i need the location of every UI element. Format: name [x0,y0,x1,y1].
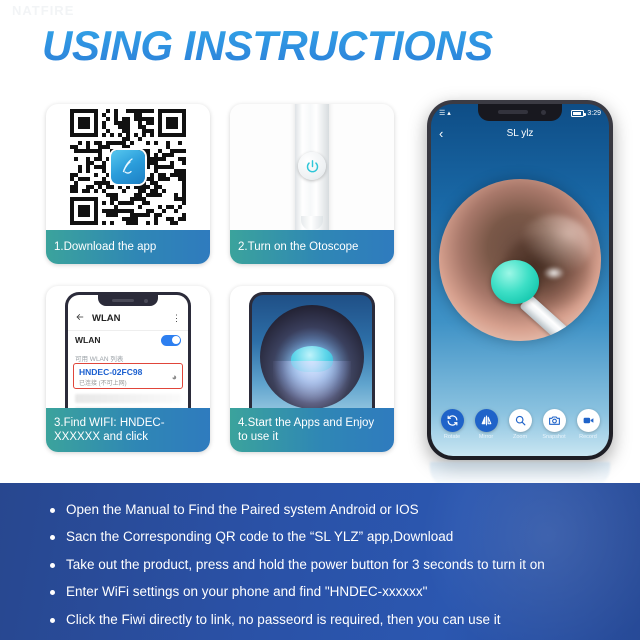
mini-phone-frame: WLAN ⋮ WLAN 可用 WLAN 列表 HNDEC-02FC98 已连接 … [65,292,191,408]
back-arrow-icon[interactable] [75,309,85,327]
step-card-turn-on-otoscope: 2.Turn on the Otoscope [230,104,394,264]
bullet-dot-icon [50,508,55,513]
camera-toolbar: Rotate Mirror Zoom [431,409,609,441]
toolbar-button-snapshot[interactable]: Snapshot [540,409,568,441]
toolbar-button-record[interactable]: Record [574,409,602,441]
phone-mockup: ☰ ▴ 3:29 ‹ SL ylz [427,100,613,460]
qr-code-area [46,104,210,230]
instruction-item: Sacn the Corresponding QR code to the “S… [50,528,640,547]
toolbar-label-record: Record [579,434,597,440]
camera-icon [543,409,566,432]
ear-preview-screenshot [230,286,394,408]
step-caption-1: 1.Download the app [46,230,210,264]
probe-tip [491,260,539,304]
step-caption-3: 3.Find WIFI: HNDEC-XXXXXX and click [46,408,210,452]
rotate-icon [441,409,464,432]
ear-view-circle [260,305,364,409]
bullet-dot-icon [50,618,55,623]
mirror-icon [475,409,498,432]
instruction-text: Open the Manual to Find the Paired syste… [66,501,419,520]
instruction-item: Open the Manual to Find the Paired syste… [50,501,640,520]
video-icon [577,409,600,432]
qr-code [70,109,186,225]
wlan-screen-title: WLAN [92,313,121,324]
battery-icon [571,110,584,117]
instruction-item: Click the Fiwi directly to link, no pass… [50,611,640,630]
status-left-icons: ☰ ▴ [439,110,451,117]
instruction-text: Sacn the Corresponding QR code to the “S… [66,528,453,547]
toolbar-label-snapshot: Snapshot [542,434,565,440]
step-caption-4: 4.Start the Apps and Enjoy to use it [230,408,394,452]
wlan-header: WLAN ⋮ [68,308,188,328]
instruction-item: Take out the product, press and hold the… [50,556,640,575]
ear-canal-live-view[interactable] [439,179,601,341]
instruction-list: Open the Manual to Find the Paired syste… [50,501,640,629]
phone-notch [478,104,562,121]
mini-phone-frame-2 [249,292,375,408]
wifi-icon: ▴ [447,110,451,117]
wlan-screenshot: WLAN ⋮ WLAN 可用 WLAN 列表 HNDEC-02FC98 已连接 … [46,286,210,408]
phone-screen: ☰ ▴ 3:29 ‹ SL ylz [431,104,609,456]
power-icon [298,152,326,180]
instruction-item: Enter WiFi settings on your phone and fi… [50,583,640,602]
step-caption-2: 2.Turn on the Otoscope [230,230,394,264]
wlan-network-item[interactable]: HNDEC-02FC98 已连接 (不可上网) ◕ [73,363,183,389]
wlan-toggle-row[interactable]: WLAN [68,330,188,349]
phone-notch [98,295,158,306]
page-title: USING INSTRUCTIONS [42,22,493,70]
probe-glow [273,361,351,409]
wlan-toggle-switch[interactable] [161,335,181,346]
wlan-network-ssid: HNDEC-02FC98 [79,367,177,377]
wlan-blurred-row-1 [75,394,181,403]
instruction-text: Take out the product, press and hold the… [66,556,545,575]
app-bar: ‹ SL ylz [431,122,609,144]
bullet-dot-icon [50,563,55,568]
probe-light-reflection [543,266,565,280]
zoom-icon [509,409,532,432]
otoscope-probe [491,260,601,341]
toolbar-label-mirror: Mirror [479,434,493,440]
status-time: 3:29 [587,110,601,117]
toolbar-label-rotate: Rotate [444,434,460,440]
toolbar-button-mirror[interactable]: Mirror [472,409,500,441]
step-card-start-apps: 4.Start the Apps and Enjoy to use it [230,286,394,452]
wlan-section-label: 可用 WLAN 列表 [75,353,123,363]
watermark-top: NATFIRE [12,3,74,18]
step-card-find-wifi: WLAN ⋮ WLAN 可用 WLAN 列表 HNDEC-02FC98 已连接 … [46,286,210,452]
app-logo-icon [111,150,145,184]
overflow-menu-icon[interactable]: ⋮ [172,315,181,321]
probe-shaft [519,294,573,341]
instruction-text: Click the Fiwi directly to link, no pass… [66,611,500,630]
wlan-network-status: 已连接 (不可上网) [79,378,177,387]
toolbar-label-zoom: Zoom [513,434,527,440]
bullet-dot-icon [50,535,55,540]
otoscope-photo [230,104,394,230]
wlan-toggle-label: WLAN [75,335,101,345]
bullet-dot-icon [50,590,55,595]
signal-icon: ☰ [439,110,445,117]
status-right-icons: 3:29 [571,110,601,117]
toolbar-button-zoom[interactable]: Zoom [506,409,534,441]
wifi-icon: ◕ [172,372,177,382]
toolbar-button-rotate[interactable]: Rotate [438,409,466,441]
step-card-download-app: 1.Download the app [46,104,210,264]
app-title: SL ylz [431,128,609,139]
instructions-footer: Open the Manual to Find the Paired syste… [0,483,640,640]
instruction-text: Enter WiFi settings on your phone and fi… [66,583,427,602]
